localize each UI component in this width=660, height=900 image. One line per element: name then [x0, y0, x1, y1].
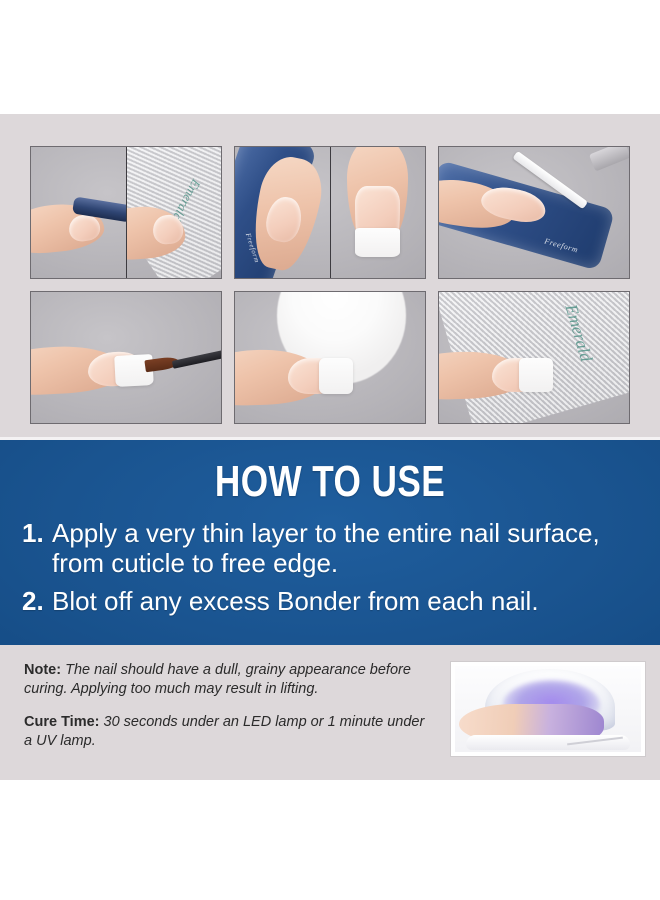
photo-tile-2: Freeform: [234, 146, 426, 279]
tile-split-divider: [330, 147, 331, 278]
french-tip: [319, 358, 353, 395]
step-number: 1.: [22, 518, 52, 548]
cure-time-label: Cure Time:: [24, 714, 99, 730]
lamp-base: [466, 735, 630, 750]
photo-subtile-2a: Freeform: [235, 147, 330, 278]
note-text-column: Note: The nail should have a dull, grain…: [24, 661, 434, 766]
note-section: Note: The nail should have a dull, grain…: [0, 649, 660, 780]
instruction-step: 2. Blot off any excess Bonder from each …: [22, 586, 642, 616]
photo-subtile-1a: [31, 147, 126, 278]
note-body: The nail should have a dull, grainy appe…: [24, 662, 411, 697]
photo-tile-1: Emerald: [30, 146, 222, 279]
lamp-photo-inner: [455, 666, 641, 752]
instruction-steps-list: 1. Apply a very thin layer to the entire…: [22, 518, 642, 616]
photo-tile-5: [234, 291, 426, 424]
step-number: 2.: [22, 586, 52, 616]
note-paragraph: Note: The nail should have a dull, grain…: [24, 661, 434, 699]
instruction-step: 1. Apply a very thin layer to the entire…: [22, 518, 642, 578]
photo-grid: Emerald Freeform: [30, 146, 630, 424]
photo-subtile-1b: Emerald: [126, 147, 221, 278]
photo-tile-3: Freeform: [438, 146, 630, 279]
step-text: Blot off any excess Bonder from each nai…: [52, 586, 642, 616]
photo-subtile-2b: [330, 147, 425, 278]
how-to-use-band: HOW TO USE 1. Apply a very thin layer to…: [0, 437, 660, 645]
french-tip: [519, 358, 553, 392]
page-title: HOW TO USE: [66, 440, 594, 504]
french-tip: [355, 228, 401, 257]
tile-split-divider: [126, 147, 127, 278]
cure-time-paragraph: Cure Time: 30 seconds under an LED lamp …: [24, 713, 434, 751]
product-instruction-page: Emerald Freeform: [0, 0, 660, 900]
led-lamp-photo: [450, 661, 646, 757]
photo-tile-4: [30, 291, 222, 424]
step-text: Apply a very thin layer to the entire na…: [52, 518, 642, 578]
photo-tile-6: Emerald: [438, 291, 630, 424]
note-label: Note:: [24, 662, 61, 678]
